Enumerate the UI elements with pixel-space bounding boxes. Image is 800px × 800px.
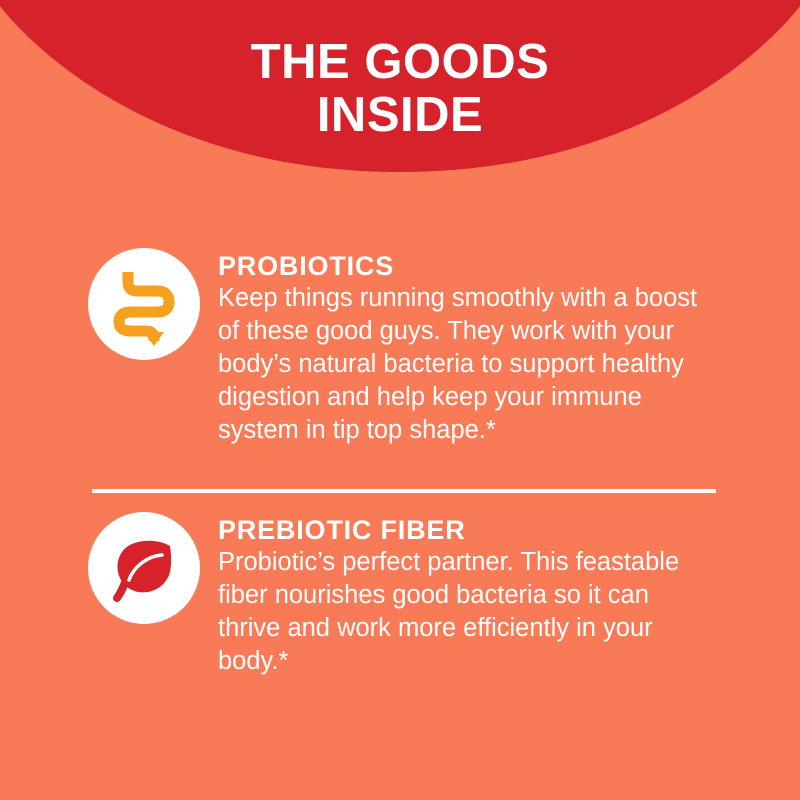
- probiotics-text-block: PROBIOTICS Keep things running smoothly …: [218, 248, 740, 447]
- probiotics-icon-badge: [88, 248, 200, 360]
- prebiotic-fiber-body: Probiotic’s perfect partner. This feasta…: [218, 546, 718, 678]
- header-banner: THE GOODS INSIDE: [0, 0, 800, 200]
- probiotics-heading: PROBIOTICS: [218, 250, 740, 282]
- section-probiotics: PROBIOTICS Keep things running smoothly …: [0, 248, 800, 447]
- intestine-icon: [102, 262, 186, 346]
- page-title: THE GOODS INSIDE: [0, 36, 800, 142]
- prebiotic-fiber-icon-badge: [88, 512, 200, 624]
- prebiotic-fiber-text-block: PREBIOTIC FIBER Probiotic’s perfect part…: [218, 512, 740, 678]
- probiotics-body: Keep things running smoothly with a boos…: [218, 282, 718, 447]
- prebiotic-fiber-heading: PREBIOTIC FIBER: [218, 514, 740, 546]
- arrow-down-icon: [144, 332, 164, 346]
- section-divider: [92, 489, 716, 493]
- section-prebiotic-fiber: PREBIOTIC FIBER Probiotic’s perfect part…: [0, 512, 800, 678]
- infographic-page: THE GOODS INSIDE PROBIOTICS Keep things …: [0, 0, 800, 800]
- leaf-icon: [104, 528, 184, 608]
